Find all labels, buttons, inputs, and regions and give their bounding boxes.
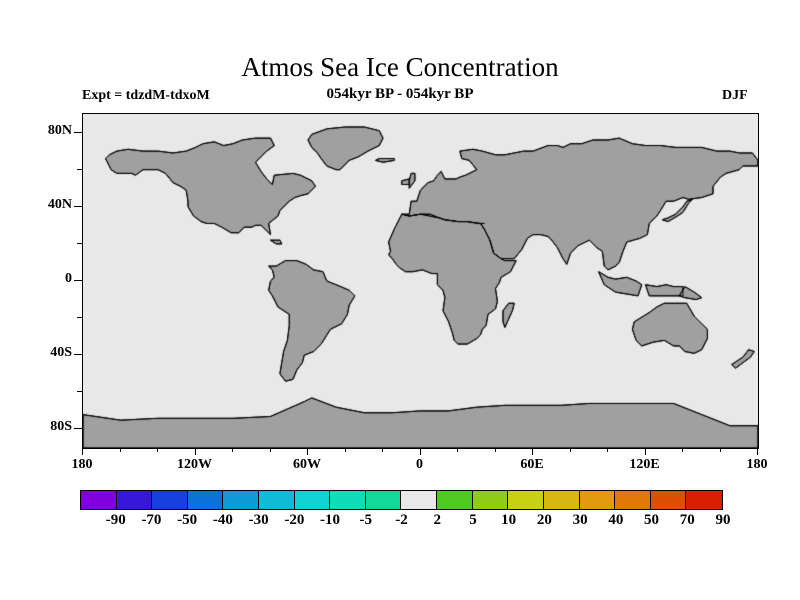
x-axis-label: 180 — [717, 457, 797, 473]
y-axis-label: 40S — [0, 345, 72, 361]
axis-tick — [74, 132, 82, 133]
colorbar-cell — [401, 491, 437, 509]
x-axis-label: 180 — [42, 457, 122, 473]
axis-tick — [345, 448, 346, 452]
colorbar-cell — [580, 491, 616, 509]
axis-tick — [77, 317, 82, 318]
axis-tick — [77, 169, 82, 170]
sea-ice-anomaly-map — [83, 114, 758, 448]
x-axis-label: 120E — [605, 457, 685, 473]
axis-tick — [682, 448, 683, 452]
colorbar-cell — [366, 491, 402, 509]
axis-tick — [307, 448, 308, 455]
axis-tick — [720, 448, 721, 452]
colorbar-tick-label: 90 — [698, 512, 748, 529]
colorbar-cell — [330, 491, 366, 509]
x-axis-label: 0 — [380, 457, 460, 473]
figure-root: Atmos Sea Ice Concentration 054kyr BP - … — [0, 0, 800, 600]
axis-tick — [645, 448, 646, 455]
y-axis-label: 40N — [0, 197, 72, 213]
map-plot-area — [82, 113, 759, 449]
axis-tick — [232, 448, 233, 452]
y-axis-label: 80N — [0, 123, 72, 139]
colorbar-cell — [223, 491, 259, 509]
axis-tick — [74, 428, 82, 429]
axis-tick — [607, 448, 608, 452]
axis-tick — [570, 448, 571, 452]
colorbar-cell — [437, 491, 473, 509]
y-axis-label: 0 — [0, 271, 72, 287]
colorbar-cell — [615, 491, 651, 509]
axis-tick — [77, 243, 82, 244]
axis-tick — [77, 391, 82, 392]
colorbar-cell — [686, 491, 722, 509]
axis-tick — [270, 448, 271, 452]
colorbar-cell — [651, 491, 687, 509]
axis-tick — [457, 448, 458, 452]
colorbar-cell — [152, 491, 188, 509]
colorbar-cell — [544, 491, 580, 509]
colorbar-cell — [188, 491, 224, 509]
colorbar-cell — [117, 491, 153, 509]
axis-tick — [74, 280, 82, 281]
x-axis-label: 120W — [155, 457, 235, 473]
y-axis-label: 80S — [0, 419, 72, 435]
page-title: Atmos Sea Ice Concentration — [0, 52, 800, 83]
x-axis-label: 60W — [267, 457, 347, 473]
colorbar-cell — [295, 491, 331, 509]
axis-tick — [74, 354, 82, 355]
colorbar-cell — [473, 491, 509, 509]
axis-tick — [532, 448, 533, 455]
axis-tick — [74, 206, 82, 207]
colorbar-cell — [259, 491, 295, 509]
axis-tick — [495, 448, 496, 452]
experiment-label: Expt = tdzdM-tdxoM — [82, 88, 210, 104]
axis-tick — [157, 448, 158, 452]
axis-tick — [195, 448, 196, 455]
axis-tick — [382, 448, 383, 452]
colorbar-cell — [81, 491, 117, 509]
axis-tick — [420, 448, 421, 455]
axis-tick — [82, 448, 83, 455]
season-label: DJF — [722, 88, 748, 104]
x-axis-label: 60E — [492, 457, 572, 473]
axis-tick — [120, 448, 121, 452]
colorbar-cell — [508, 491, 544, 509]
colorbar — [80, 490, 723, 510]
axis-tick — [757, 448, 758, 455]
